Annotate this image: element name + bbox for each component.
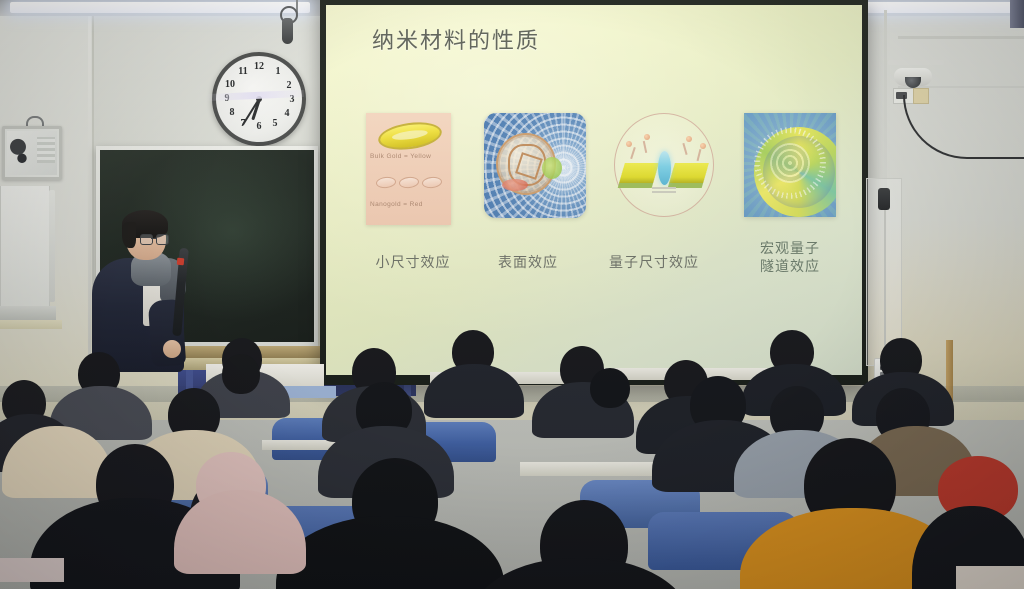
slide-label-small-size-effect: 小尺寸效应 xyxy=(363,255,463,273)
projection-screen: 纳米材料的性质 Bulk Gold = Yellow Nanogold = Re… xyxy=(326,5,862,375)
framed-panel-grid xyxy=(37,137,55,163)
wall-conduit-vertical xyxy=(884,10,887,190)
lecturer-glasses-icon xyxy=(140,234,168,243)
door-edge xyxy=(1010,0,1024,28)
nanogold-ellipse-2 xyxy=(398,176,419,189)
nanogold-ellipse-3 xyxy=(421,176,442,189)
clock-numeral-6: 6 xyxy=(252,122,266,132)
slide-label-line1: 宏观量子 xyxy=(738,241,842,259)
electron-wave-ripples xyxy=(770,143,810,183)
ceiling-light-left xyxy=(10,2,310,13)
cabinet-base xyxy=(0,306,56,320)
clock-numeral-4: 4 xyxy=(280,109,294,119)
cabinet-shelf xyxy=(0,320,62,329)
substrate-line xyxy=(652,187,676,189)
slide-image-surface-effect xyxy=(484,113,586,218)
glasses-lens-right xyxy=(156,234,169,245)
cabinet-strip xyxy=(49,190,55,302)
slide-label-surface-effect: 表面效应 xyxy=(478,255,578,273)
red-molecule-blob xyxy=(502,179,528,191)
paper-near-right xyxy=(956,566,1024,589)
bell-body xyxy=(282,18,293,44)
quantum-dot-shape xyxy=(658,151,671,185)
slide-title: 纳米材料的性质 xyxy=(372,23,540,55)
lecturer-hair-side xyxy=(122,222,136,248)
microphone-indicator xyxy=(177,258,185,266)
slide-label-row: 小尺寸效应 表面效应 量子尺寸效应 宏观量子 隧道效应 xyxy=(366,251,846,301)
slide-label-quantum-size-effect: 量子尺寸效应 xyxy=(594,255,714,273)
slide-image-small-size-effect: Bulk Gold = Yellow Nanogold = Red xyxy=(366,113,451,225)
camera-mount-plate xyxy=(888,60,944,65)
electrode-slab-right xyxy=(669,163,709,183)
bulk-gold-caption: Bulk Gold = Yellow xyxy=(370,153,448,160)
clock-numeral-8: 8 xyxy=(225,108,239,118)
clock-numeral-1: 1 xyxy=(271,67,285,77)
clock-numeral-12: 12 xyxy=(252,62,266,72)
slide-label-macroscopic-quantum-tunneling: 宏观量子 隧道效应 xyxy=(738,241,842,276)
framed-wall-panel xyxy=(2,126,62,180)
nanogold-caption: Nanogold = Red xyxy=(370,201,448,208)
ligand-molecule-4 xyxy=(700,143,706,149)
audience-area xyxy=(0,330,1024,589)
wall-bell-icon xyxy=(277,6,297,48)
ligand-molecule-2 xyxy=(644,134,650,140)
paper-near-left xyxy=(0,558,64,582)
cord-weight xyxy=(878,188,890,210)
slide-image-quantum-size-effect xyxy=(614,113,714,217)
clock-numeral-11: 11 xyxy=(236,67,250,77)
ligand-molecule-1 xyxy=(626,141,632,147)
nanogold-ellipse-1 xyxy=(375,176,396,189)
projection-screen-frame: 纳米材料的性质 Bulk Gold = Yellow Nanogold = Re… xyxy=(320,0,868,385)
clock-numeral-10: 10 xyxy=(223,80,237,90)
audience-head-f9 xyxy=(590,368,630,408)
security-camera-icon xyxy=(894,68,932,86)
electrode-slab-left xyxy=(619,163,659,183)
clock-numeral-5: 5 xyxy=(268,119,282,129)
green-molecule-blob xyxy=(542,157,562,179)
ligand-molecule-3 xyxy=(686,136,692,142)
glasses-lens-left xyxy=(140,234,153,245)
slide-panel-row: Bulk Gold = Yellow Nanogold = Red xyxy=(366,113,836,233)
wall-rail-top xyxy=(898,36,1024,39)
slide-label-line2: 隧道效应 xyxy=(738,259,842,277)
gold-ring-shape xyxy=(377,119,444,154)
nanogold-ellipses xyxy=(376,175,442,189)
white-cabinet[interactable] xyxy=(0,186,50,309)
audience-head-f4 xyxy=(222,354,260,394)
slide-image-macroscopic-quantum-tunneling xyxy=(744,113,836,217)
lecture-hall-photo: 12 1 2 3 4 5 6 7 8 9 10 11 纳米材料的性质 xyxy=(0,0,1024,589)
